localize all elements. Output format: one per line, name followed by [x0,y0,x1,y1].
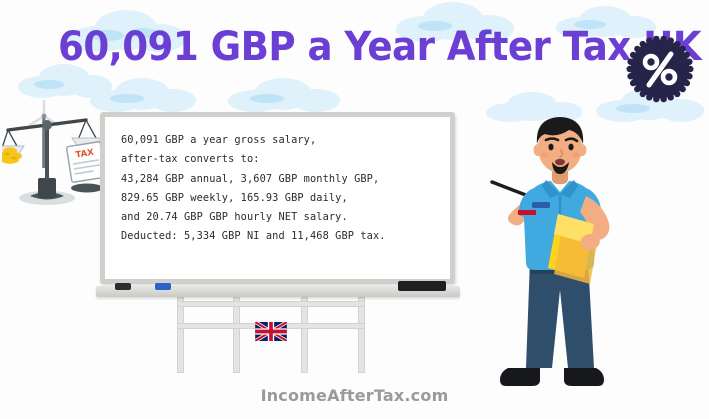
cloud-decoration [228,78,340,112]
footer-watermark: IncomeAfterTax.com [0,386,709,405]
whiteboard-frame: 60,091 GBP a year gross salary, after-ta… [100,112,455,284]
whiteboard-line: and 20.74 GBP GBP hourly NET salary. [121,208,440,227]
whiteboard-line: 829.65 GBP weekly, 165.93 GBP daily, [121,189,440,208]
percent-badge-icon [624,33,696,105]
page-root: 60,091 GBP a Year After Tax UK [0,0,709,419]
uk-flag-icon [255,322,287,341]
whiteboard-text: 60,091 GBP a year gross salary, after-ta… [121,131,440,247]
eraser-icon [398,281,446,291]
whiteboard-line: after-tax converts to: [121,150,440,169]
whiteboard-surface: 60,091 GBP a year gross salary, after-ta… [105,117,450,279]
balance-scale-icon: TAX [2,96,110,210]
whiteboard-line: 60,091 GBP a year gross salary, [121,131,440,150]
whiteboard: 60,091 GBP a year gross salary, after-ta… [100,112,455,284]
whiteboard-line: 43,284 GBP annual, 3,607 GBP monthly GBP… [121,170,440,189]
page-title: 60,091 GBP a Year After Tax UK [58,22,596,72]
teacher-illustration [486,110,656,392]
header: 60,091 GBP a Year After Tax UK [0,22,709,72]
whiteboard-line: Deducted: 5,334 GBP NI and 11,468 GBP ta… [121,227,440,246]
blue-marker-icon [155,283,171,290]
black-marker-icon [115,283,131,290]
